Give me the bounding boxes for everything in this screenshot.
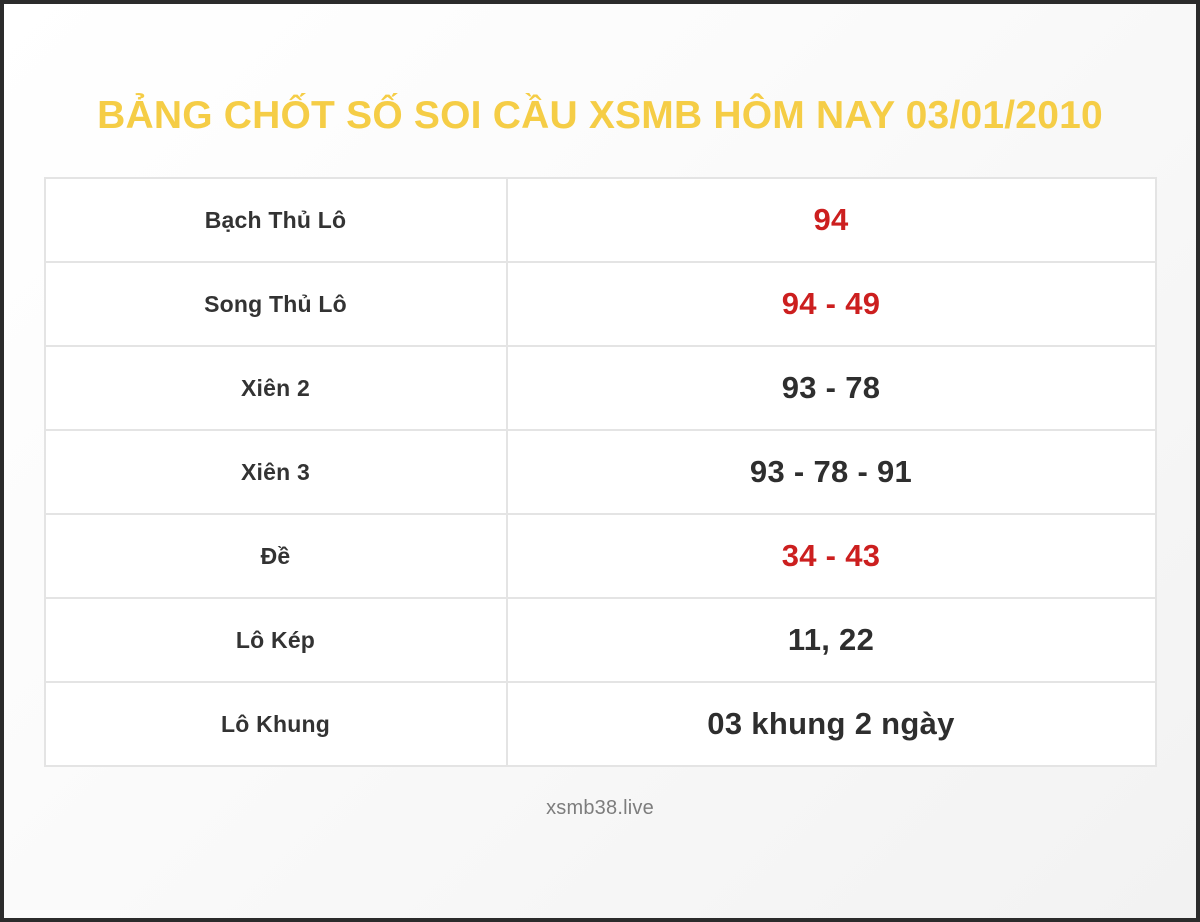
row-label: Xiên 3 [45,430,507,514]
table-row: Lô Khung03 khung 2 ngày [45,682,1156,766]
row-label: Đề [45,514,507,598]
row-label: Lô Kép [45,598,507,682]
table-row: Song Thủ Lô94 - 49 [45,262,1156,346]
row-value: 94 - 49 [507,262,1156,346]
site-watermark: xsmb38.live [546,797,654,820]
row-value: 34 - 43 [507,514,1156,598]
prediction-table-body: Bạch Thủ Lô94Song Thủ Lô94 - 49Xiên 293 … [45,178,1156,766]
row-label: Xiên 2 [45,346,507,430]
prediction-table: Bạch Thủ Lô94Song Thủ Lô94 - 49Xiên 293 … [44,177,1157,767]
row-value: 03 khung 2 ngày [507,682,1156,766]
row-label: Lô Khung [45,682,507,766]
prediction-table-container: Bạch Thủ Lô94Song Thủ Lô94 - 49Xiên 293 … [44,177,1157,767]
table-row: Bạch Thủ Lô94 [45,178,1156,262]
table-row: Đề34 - 43 [45,514,1156,598]
row-value: 93 - 78 [507,346,1156,430]
row-label: Song Thủ Lô [45,262,507,346]
table-row: Xiên 293 - 78 [45,346,1156,430]
page-title: BẢNG CHỐT SỐ SOI CẦU XSMB HÔM NAY 03/01/… [97,96,1103,135]
row-value: 11, 22 [507,598,1156,682]
table-row: Lô Kép11, 22 [45,598,1156,682]
row-value: 93 - 78 - 91 [507,430,1156,514]
row-label: Bạch Thủ Lô [45,178,507,262]
lottery-prediction-page: BẢNG CHỐT SỐ SOI CẦU XSMB HÔM NAY 03/01/… [4,4,1196,918]
table-row: Xiên 393 - 78 - 91 [45,430,1156,514]
row-value: 94 [507,178,1156,262]
